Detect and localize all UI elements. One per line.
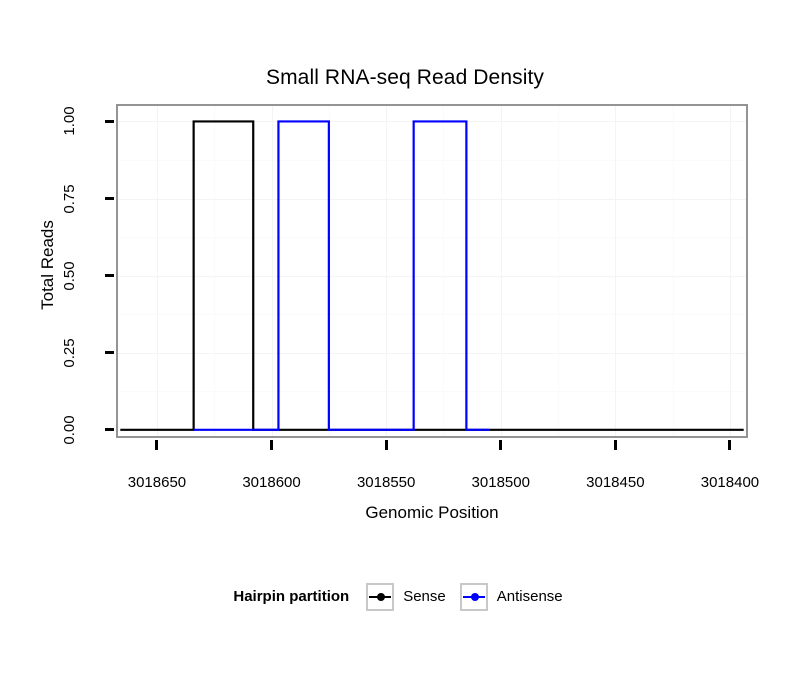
legend-key-icon: [460, 583, 488, 611]
x-tick-label: 3018550: [326, 474, 446, 492]
legend-label: Antisense: [497, 587, 563, 607]
y-axis-title: Total Reads: [38, 165, 58, 365]
y-tick-mark: [105, 197, 114, 200]
legend-entries: SenseAntisense: [366, 583, 576, 611]
y-tick-mark: [105, 428, 114, 431]
y-tick-label: 0.00: [62, 400, 78, 460]
y-tick-label: 1.00: [62, 91, 78, 151]
x-tick-mark: [385, 440, 388, 450]
x-tick-mark: [270, 440, 273, 450]
x-tick-mark: [499, 440, 502, 450]
legend-key-icon: [366, 583, 394, 611]
y-tick-mark: [105, 351, 114, 354]
y-tick-label: 0.75: [62, 169, 78, 229]
x-tick-mark: [614, 440, 617, 450]
legend-key-point-icon: [377, 593, 385, 601]
y-tick-label: 0.25: [62, 323, 78, 383]
legend-title: Hairpin partition: [233, 587, 349, 607]
series-line-sense: [120, 121, 743, 429]
chart-title: Small RNA-seq Read Density: [0, 64, 810, 92]
data-series-layer: [118, 106, 746, 436]
x-tick-label: 3018400: [670, 474, 790, 492]
x-tick-label: 3018650: [97, 474, 217, 492]
legend-entry-sense[interactable]: Sense: [366, 583, 446, 611]
plot-panel-inner: [118, 106, 746, 436]
legend-key-point-icon: [471, 593, 479, 601]
legend-label: Sense: [403, 587, 446, 607]
x-tick-label: 3018600: [212, 474, 332, 492]
x-tick-label: 3018450: [555, 474, 675, 492]
x-axis-title: Genomic Position: [116, 502, 748, 524]
x-tick-mark: [155, 440, 158, 450]
plot-panel: [116, 104, 748, 438]
y-tick-mark: [105, 120, 114, 123]
x-tick-label: 3018500: [441, 474, 561, 492]
x-tick-mark: [728, 440, 731, 450]
legend-entry-antisense[interactable]: Antisense: [460, 583, 563, 611]
y-tick-mark: [105, 274, 114, 277]
chart-container: Small RNA-seq Read Density Total Reads G…: [0, 0, 810, 690]
series-line-antisense: [194, 121, 490, 429]
y-tick-label: 0.50: [62, 246, 78, 306]
legend: Hairpin partition SenseAntisense: [0, 583, 810, 611]
